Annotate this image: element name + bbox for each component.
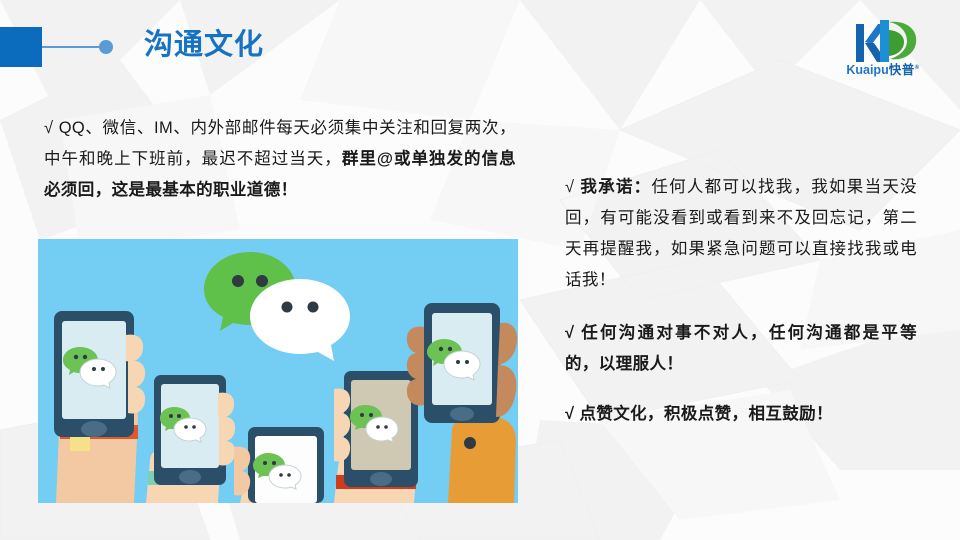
registered-mark: ® [915, 65, 920, 71]
title-connector-line [42, 46, 104, 48]
illustration-artwork [38, 239, 518, 503]
left-paragraph: √ QQ、微信、IM、内外部邮件每天必须集中关注和回复两次，中午和晚上下班前，最… [44, 113, 516, 206]
logo-chinese-name: 快普 [889, 63, 915, 77]
right-paragraph-2-bold: 任何沟通对事不对人，任何沟通都是平等的，以理服人！ [565, 324, 917, 373]
right-paragraph-praise: √ 点赞文化，积极点赞，相互鼓励！ [565, 399, 917, 430]
right-paragraph-1-bold: 我承诺： [574, 178, 651, 196]
page-title: 沟通文化 [144, 25, 264, 65]
title-accent-square [0, 27, 42, 67]
hand-phone-4 [334, 371, 418, 503]
title-connector-dot [99, 40, 113, 54]
illustration-hands-with-phones [38, 239, 518, 503]
right-paragraph-fairness: √ 任何沟通对事不对人，任何沟通都是平等的，以理服人！ [565, 318, 917, 380]
logo-wordmark: Kuaipu快普® [828, 61, 938, 78]
kuaipu-logo-icon [856, 20, 918, 62]
right-paragraph-commitment: √ 我承诺：任何人都可以找我，我如果当天没回，有可能没看到或看到来不及回忘记，第… [565, 172, 917, 296]
company-logo: Kuaipu快普® [828, 20, 938, 80]
slide: 沟通文化 Kuaipu快普® √ QQ、微信、IM、内外部邮件每天必须集中关注和… [0, 0, 960, 540]
right-paragraph-3-bold: 点赞文化，积极点赞，相互鼓励！ [574, 405, 832, 423]
hand-phone-1 [54, 311, 145, 503]
logo-latin-name: Kuaipu [846, 63, 888, 77]
hand-phone-2 [146, 375, 235, 503]
